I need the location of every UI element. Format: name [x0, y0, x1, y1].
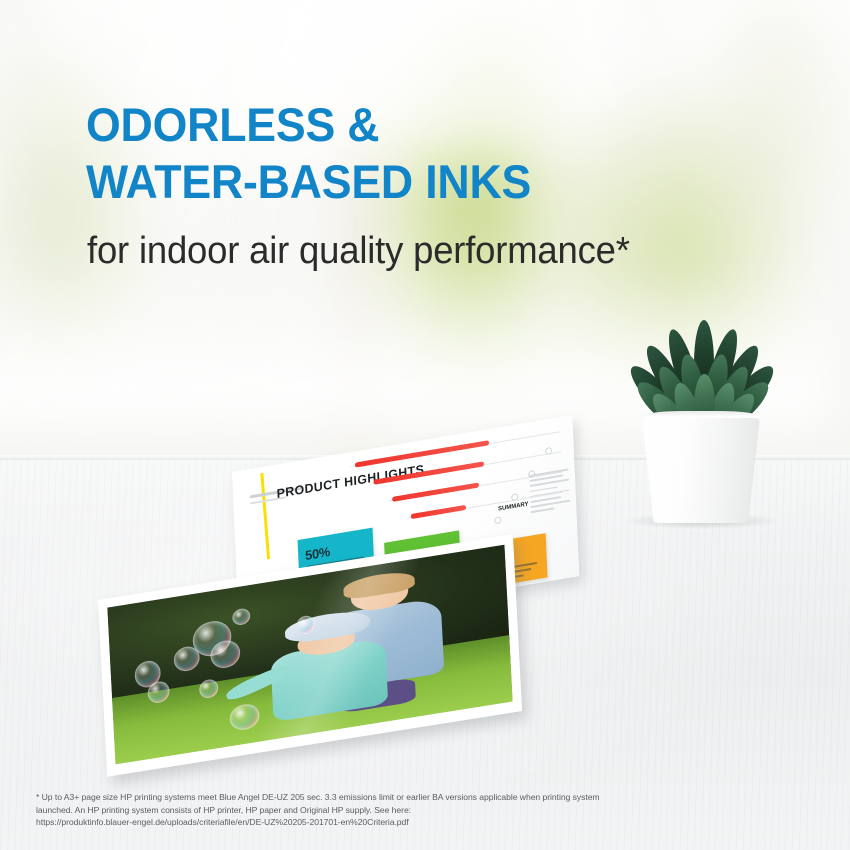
- chart-bar: [411, 505, 466, 519]
- chart-bar: [392, 482, 479, 502]
- promo-banner: ODORLESS & WATER-BASED INKS for indoor a…: [0, 0, 850, 850]
- plant-pot: [642, 418, 760, 523]
- footnote-line-3: https://produktinfo.blauer-engel.de/uplo…: [36, 816, 826, 829]
- headline-line-1: ODORLESS &: [86, 96, 751, 153]
- doc-text-line: [531, 508, 555, 514]
- photo-child-younger: [268, 605, 389, 733]
- chart-bar: [373, 461, 484, 485]
- potted-plant: [620, 318, 790, 523]
- headline-line-2: WATER-BASED INKS: [86, 153, 751, 210]
- chart-endpoint-dot: [494, 516, 501, 524]
- footnote-line-2: launched. An HP printing system consists…: [36, 804, 826, 817]
- accent-bar: [260, 473, 270, 560]
- headline-block: ODORLESS & WATER-BASED INKS: [86, 96, 786, 210]
- doc-side-text-block: [529, 468, 570, 516]
- subheadline: for indoor air quality performance*: [87, 228, 630, 274]
- highlight-card-value: 50%: [305, 544, 330, 563]
- footnote-line-1: * Up to A3+ page size HP printing system…: [36, 791, 826, 804]
- footnote: * Up to A3+ page size HP printing system…: [36, 791, 826, 829]
